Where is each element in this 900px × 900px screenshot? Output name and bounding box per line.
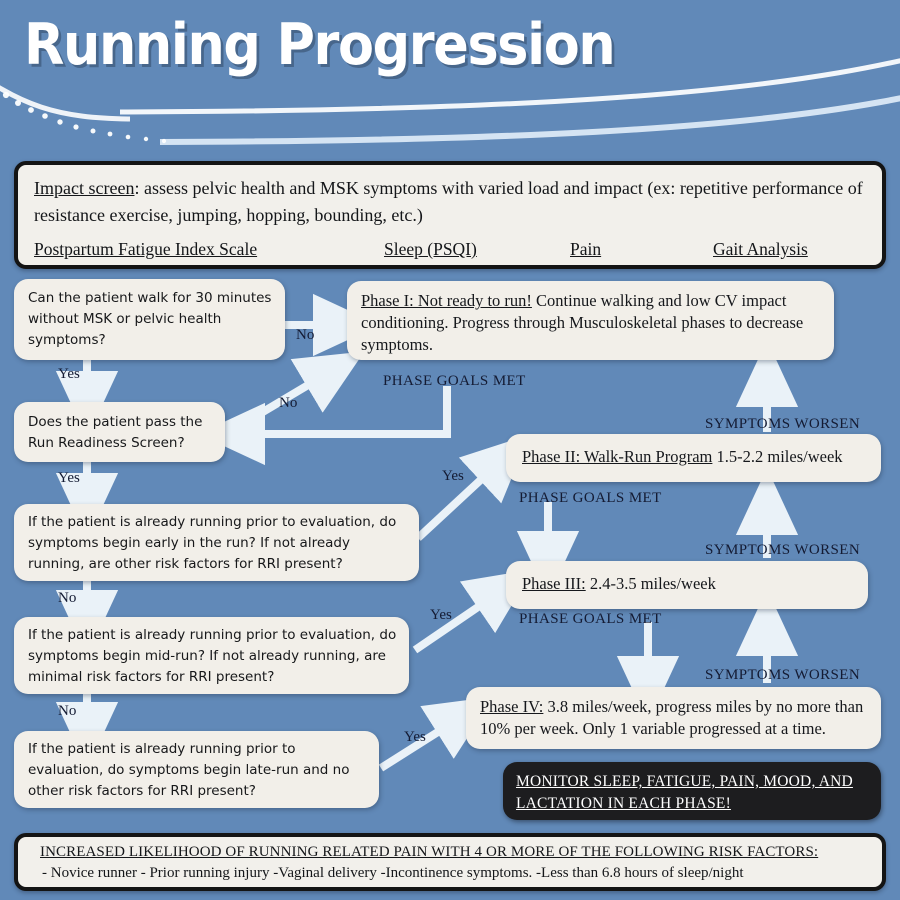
measure-gait-analysis: Gait Analysis <box>713 239 808 260</box>
phase-text: Phase IV: 3.8 miles/week, progress miles… <box>480 696 872 740</box>
note-phase-goals-met-2: PHASE GOALS MET <box>519 490 662 507</box>
arrow-phase1-goals-met <box>238 386 447 434</box>
question-box-run-readiness-screen: Does the patient pass the Run Readiness … <box>14 402 225 462</box>
phase-box-phase-2: Phase II: Walk-Run Program 1.5-2.2 miles… <box>506 434 881 482</box>
impact-screen-box: Impact screen: assess pelvic health and … <box>14 161 886 269</box>
note-symptoms-worsen-1: SYMPTOMS WORSEN <box>705 416 860 433</box>
phase-body: 2.4-3.5 miles/week <box>586 574 716 593</box>
note-symptoms-worsen-2: SYMPTOMS WORSEN <box>705 542 860 559</box>
header-banner: Running Progression <box>0 0 900 152</box>
impact-screen-text: Impact screen: assess pelvic health and … <box>34 175 872 229</box>
question-text: If the patient is already running prior … <box>28 739 370 802</box>
edge-label-q3-yes: Yes <box>442 468 464 485</box>
page-title: Running Progression <box>24 12 614 78</box>
phase-label: Phase II: Walk-Run Program <box>522 447 712 466</box>
edge-label-q5-yes: Yes <box>404 729 426 746</box>
phase-box-phase-4: Phase IV: 3.8 miles/week, progress miles… <box>466 687 881 749</box>
edge-label-q4-yes: Yes <box>430 607 452 624</box>
impact-screen-label: Impact screen <box>34 178 134 198</box>
arrow-q4-yes <box>415 592 500 650</box>
edge-label-q2-yes: Yes <box>58 470 80 487</box>
measure-pain: Pain <box>570 239 601 260</box>
infographic-canvas: Running Progression Impact screen: asses… <box>0 0 900 900</box>
edge-label-q1-no: No <box>296 327 314 344</box>
measure-sleep-psqi: Sleep (PSQI) <box>384 239 477 260</box>
edge-label-q3-no: No <box>58 590 76 607</box>
risk-factors-list: - Novice runner - Prior running injury -… <box>42 865 744 882</box>
note-phase-goals-met-1: PHASE GOALS MET <box>383 373 526 390</box>
phase-box-phase-1: Phase I: Not ready to run! Continue walk… <box>347 281 834 360</box>
phase-label: Phase IV: <box>480 697 543 716</box>
question-box-walk-30-minutes: Can the patient walk for 30 minutes with… <box>14 279 285 360</box>
phase-text: Phase III: 2.4-3.5 miles/week <box>522 573 862 595</box>
edge-label-q1-yes: Yes <box>58 366 80 383</box>
monitor-line-1: MONITOR SLEEP, FATIGUE, PAIN, MOOD, AND <box>516 770 872 793</box>
impact-screen-description: : assess pelvic health and MSK symptoms … <box>34 178 863 225</box>
edge-label-q2-no: No <box>279 395 297 412</box>
question-box-symptoms-late-run: If the patient is already running prior … <box>14 731 379 808</box>
risk-factors-box: INCREASED LIKELIHOOD OF RUNNING RELATED … <box>14 833 886 891</box>
question-text: If the patient is already running prior … <box>28 512 410 575</box>
phase-label: Phase I: Not ready to run! <box>361 291 532 310</box>
risk-factors-heading: INCREASED LIKELIHOOD OF RUNNING RELATED … <box>40 844 818 861</box>
edge-label-q4-no: No <box>58 703 76 720</box>
note-symptoms-worsen-3: SYMPTOMS WORSEN <box>705 667 860 684</box>
phase-body: 1.5-2.2 miles/week <box>712 447 842 466</box>
measure-postpartum-fatigue-index-scale: Postpartum Fatigue Index Scale <box>34 239 257 260</box>
question-box-symptoms-early-run: If the patient is already running prior … <box>14 504 419 581</box>
phase-label: Phase III: <box>522 574 586 593</box>
monitor-line-2: LACTATION IN EACH PHASE! <box>516 792 872 815</box>
phase-text: Phase I: Not ready to run! Continue walk… <box>361 290 821 356</box>
question-text: If the patient is already running prior … <box>28 625 400 688</box>
note-phase-goals-met-3: PHASE GOALS MET <box>519 611 662 628</box>
monitor-banner: MONITOR SLEEP, FATIGUE, PAIN, MOOD, AND … <box>503 762 881 820</box>
question-text: Does the patient pass the Run Readiness … <box>28 412 218 454</box>
phase-text: Phase II: Walk-Run Program 1.5-2.2 miles… <box>522 446 872 468</box>
phase-box-phase-3: Phase III: 2.4-3.5 miles/week <box>506 561 868 609</box>
question-text: Can the patient walk for 30 minutes with… <box>28 288 273 351</box>
question-box-symptoms-mid-run: If the patient is already running prior … <box>14 617 409 694</box>
